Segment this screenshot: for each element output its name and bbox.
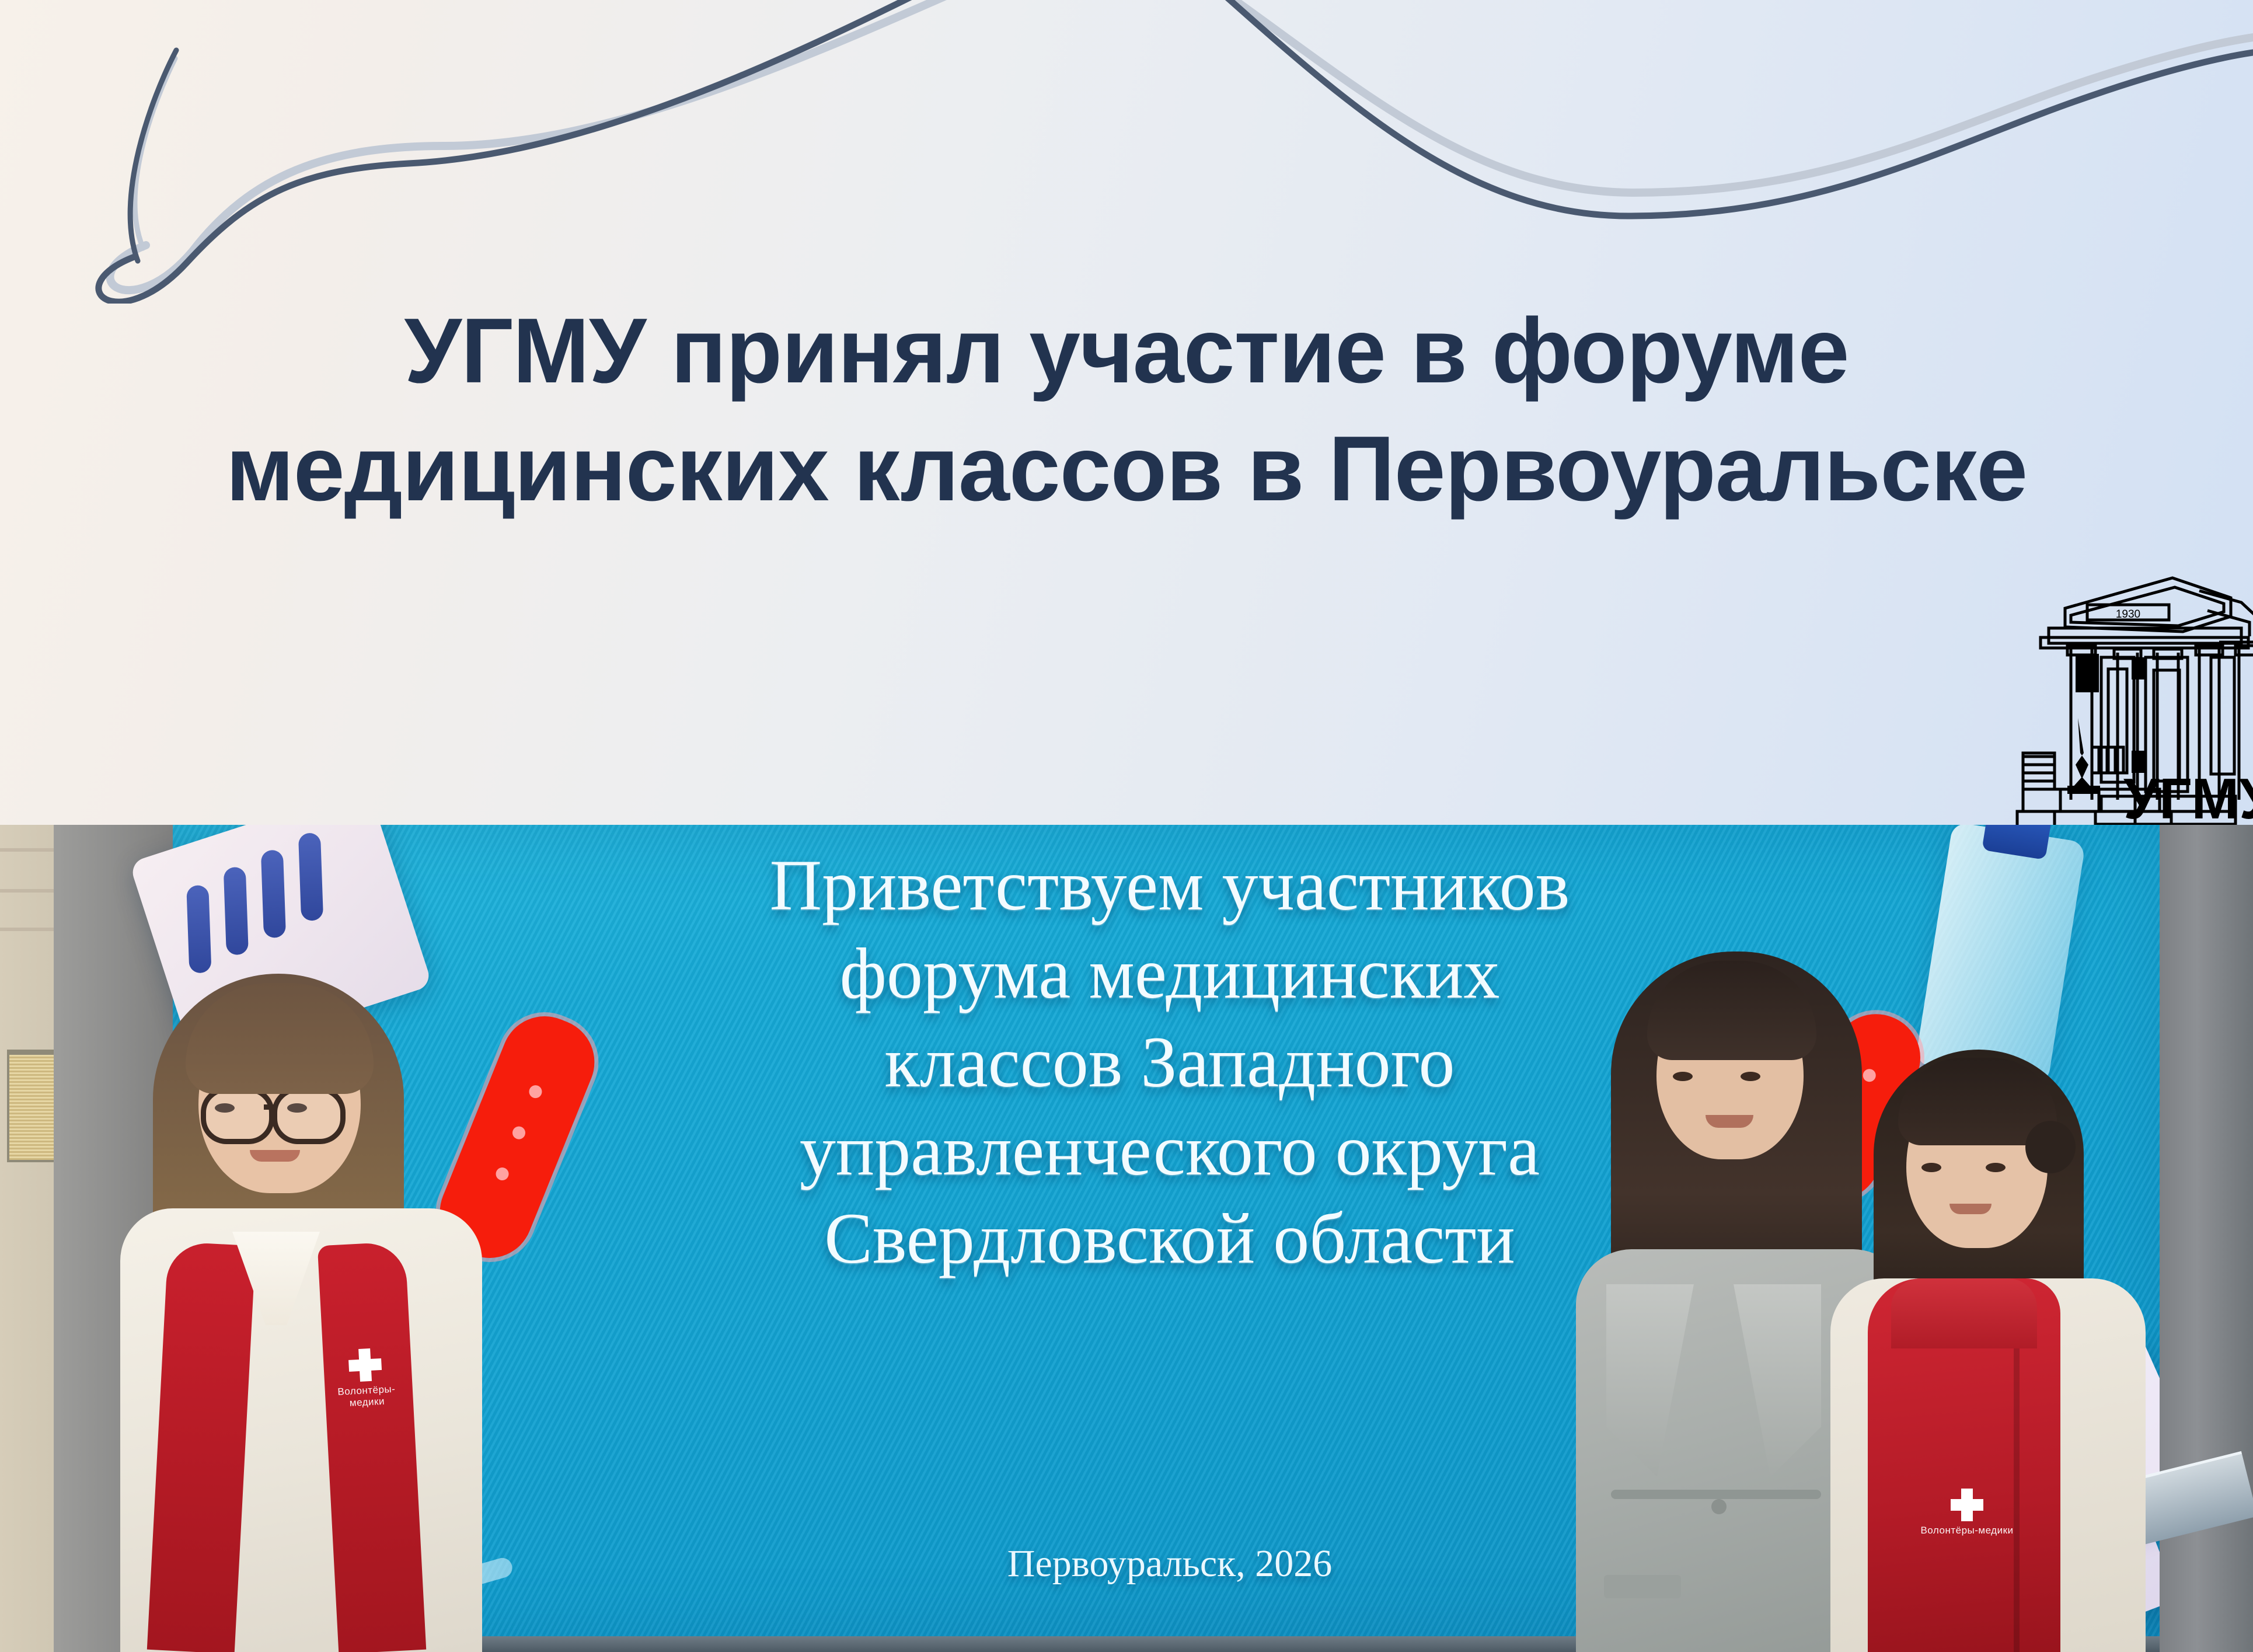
page-title: УГМУ принял участие в форуме медицинских…: [0, 292, 2253, 528]
vest-logo-label: Волонтёры-медики: [322, 1382, 411, 1410]
finial-icon: [2072, 718, 2092, 788]
person-left: Волонтёры-медики: [64, 957, 519, 1652]
logo-year: 1930: [2116, 608, 2140, 621]
coat-button: [1711, 1499, 1727, 1514]
title-line-2: медицинских классов в Первоуральске: [0, 410, 2253, 528]
hair-bun: [2025, 1121, 2076, 1173]
person-right: Волонтёры-медики: [1798, 1033, 2177, 1652]
logo-wordmark: УГМУ: [2123, 766, 2253, 825]
event-photo: Приветствуем участников форума медицинск…: [0, 825, 2253, 1652]
decorative-swoosh: [0, 0, 2253, 304]
glasses-bridge: [264, 1104, 277, 1110]
vest-zipper: [2014, 1302, 2020, 1652]
ugmu-building-icon: 1930 УГМУ: [1967, 555, 2253, 825]
vest-logo-right-person: Волонтёры-медики: [1920, 1489, 2014, 1536]
vest-logo-left-person: Волонтёры-медики: [320, 1347, 411, 1410]
title-line-1: УГМУ принял участие в форуме: [0, 292, 2253, 410]
medical-cross-icon: [348, 1348, 382, 1382]
mouth: [1949, 1204, 1992, 1214]
vest-logo-label: Волонтёры-медики: [1920, 1525, 2014, 1536]
coat-pocket: [1604, 1575, 1681, 1598]
header-banner: УГМУ принял участие в форуме медицинских…: [0, 0, 2253, 825]
glasses-left-lens: [201, 1087, 274, 1144]
ugmu-logo: 1930 УГМУ: [1967, 555, 2253, 825]
medical-cross-icon: [1951, 1489, 1983, 1521]
mouth: [250, 1150, 300, 1162]
screen-line-1: Приветствуем участников: [173, 841, 2167, 929]
news-card: УГМУ принял участие в форуме медицинских…: [0, 0, 2253, 1652]
glasses-right-lens: [272, 1087, 346, 1144]
mouth: [1706, 1115, 1753, 1128]
vest-collar: [1891, 1278, 2037, 1348]
coat-belt: [1611, 1490, 1821, 1499]
